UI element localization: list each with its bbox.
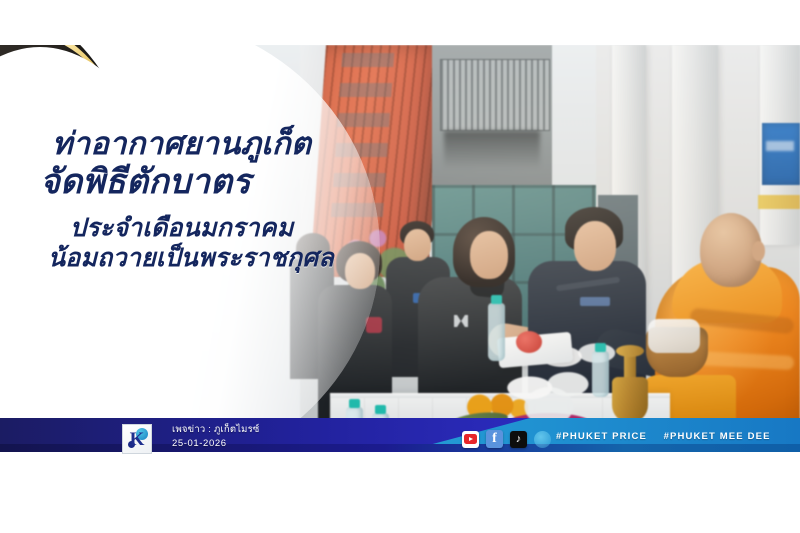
yellow-sign-strip — [758, 195, 800, 209]
tiktok-icon[interactable]: ♪ — [510, 431, 527, 448]
caption-source: เพจข่าว : ภูเก็ตไมรซ์ — [172, 423, 260, 437]
brass-vessel — [612, 377, 648, 423]
footer-bottom-stripe — [0, 444, 800, 452]
hashtag-phuket-mee-dee[interactable]: #PHUKET MEE DEE — [664, 431, 771, 442]
facebook-icon[interactable]: f — [486, 430, 503, 448]
red-bottle-cap — [516, 331, 542, 353]
blue-signage — [762, 123, 800, 185]
logo-letter: K — [130, 430, 145, 449]
wall-shadow — [444, 131, 540, 169]
caption-date: 25-01-2026 — [172, 437, 260, 451]
headline-line-2: จัดพิธีตักบาตร — [34, 164, 364, 201]
water-bottle — [592, 351, 609, 397]
news-poster: ท่าอากาศยานภูเก็ต จัดพิธีตักบาตร ประจำเด… — [0, 45, 800, 452]
headline-line-4: น้อมถวายเป็นพระราชกุศล — [34, 245, 364, 274]
headline-line-3: ประจำเดือนมกราคม — [34, 215, 364, 244]
screenshot-canvas: ท่าอากาศยานภูเก็ต จัดพิธีตักบาตร ประจำเด… — [0, 0, 800, 533]
hashtag-phuket-price[interactable]: #PHUKET PRICE — [556, 431, 647, 442]
offering-bag — [648, 319, 700, 353]
hashtag-group: #PHUKET PRICE #PHUKET MEE DEE — [556, 431, 771, 442]
headline-block: ท่าอากาศยานภูเก็ต จัดพิธีตักบาตร ประจำเด… — [34, 127, 364, 274]
metal-grille — [440, 59, 550, 131]
brass-vessel-top — [616, 345, 644, 357]
publisher-logo[interactable]: K — [122, 424, 152, 454]
headline-line-1: ท่าอากาศยานภูเก็ต — [34, 127, 364, 162]
youtube-icon[interactable] — [462, 431, 479, 448]
glow-circle-icon — [534, 431, 551, 448]
footer-caption: เพจข่าว : ภูเก็ตไมรซ์ 25-01-2026 — [172, 423, 260, 451]
water-bottle — [488, 303, 505, 361]
social-icon-group: f ♪ — [462, 430, 551, 448]
monk-ear — [752, 241, 765, 261]
